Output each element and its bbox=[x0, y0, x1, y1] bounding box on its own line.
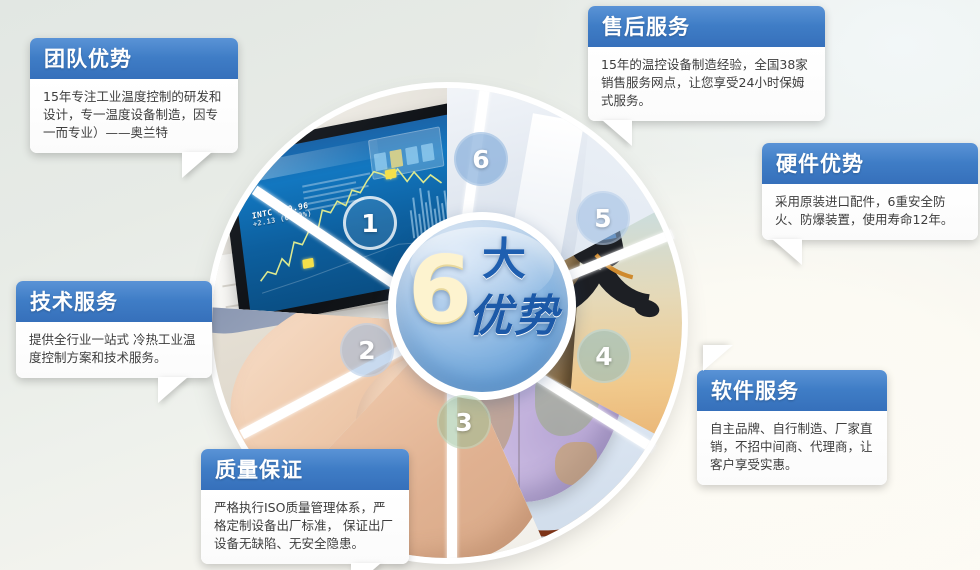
callout-tail bbox=[772, 239, 802, 265]
center-word-da: 大 bbox=[482, 238, 526, 282]
badge-6[interactable]: 6 bbox=[454, 132, 508, 186]
callout-title-hardware: 硬件优势 bbox=[762, 143, 978, 184]
callout-text-hardware: 采用原装进口配件，6重安全防火、防爆装置，使用寿命12年。 bbox=[762, 184, 978, 240]
callout-technical-service[interactable]: 技术服务 提供全行业一站式 冷热工业温度控制方案和技术服务。 bbox=[16, 281, 212, 378]
callout-title-team: 团队优势 bbox=[30, 38, 238, 79]
center-disc: 6 大 优势 bbox=[396, 220, 568, 392]
callout-text-technical: 提供全行业一站式 冷热工业温度控制方案和技术服务。 bbox=[16, 322, 212, 378]
callout-team-advantage[interactable]: 团队优势 15年专注工业温度控制的研发和设计，专一温度设备制造，因专一而专业）—… bbox=[30, 38, 238, 153]
center-number: 6 bbox=[408, 244, 472, 336]
badge-4[interactable]: 4 bbox=[577, 329, 631, 383]
callout-title-technical: 技术服务 bbox=[16, 281, 212, 322]
infographic-canvas: INTC 440.96+2.13 (0.49%) bbox=[0, 0, 980, 570]
badge-2[interactable]: 2 bbox=[340, 323, 394, 377]
callout-tail bbox=[351, 563, 381, 570]
callout-text-team: 15年专注工业温度控制的研发和设计，专一温度设备制造，因专一而专业）——奥兰特 bbox=[30, 79, 238, 153]
callout-text-quality: 严格执行ISO质量管理体系，严格定制设备出厂标准， 保证出厂设备无缺陷、无安全隐… bbox=[201, 490, 409, 564]
callout-tail bbox=[182, 152, 212, 178]
callout-tail bbox=[703, 345, 733, 371]
badge-3[interactable]: 3 bbox=[437, 395, 491, 449]
center-medallion: 6 大 优势 bbox=[388, 212, 576, 400]
callout-software-service[interactable]: 软件服务 自主品牌、自行制造、厂家直销，不招中间商、代理商，让客户享受实惠。 bbox=[697, 370, 887, 485]
callout-tail bbox=[602, 120, 632, 146]
callout-after-sales[interactable]: 售后服务 15年的温控设备制造经验，全国38家销售服务网点，让您享受24小时保姆… bbox=[588, 6, 825, 121]
callout-text-software: 自主品牌、自行制造、厂家直销，不招中间商、代理商，让客户享受实惠。 bbox=[697, 411, 887, 485]
callout-title-software: 软件服务 bbox=[697, 370, 887, 411]
badge-5[interactable]: 5 bbox=[576, 191, 630, 245]
center-word-youshi: 优势 bbox=[468, 294, 560, 340]
callout-title-quality: 质量保证 bbox=[201, 449, 409, 490]
callout-title-after-sales: 售后服务 bbox=[588, 6, 825, 47]
callout-hardware-advantage[interactable]: 硬件优势 采用原装进口配件，6重安全防火、防爆装置，使用寿命12年。 bbox=[762, 143, 978, 240]
callout-quality-assurance[interactable]: 质量保证 严格执行ISO质量管理体系，严格定制设备出厂标准， 保证出厂设备无缺陷… bbox=[201, 449, 409, 564]
callout-text-after-sales: 15年的温控设备制造经验，全国38家销售服务网点，让您享受24小时保姆式服务。 bbox=[588, 47, 825, 121]
callout-tail bbox=[158, 377, 188, 403]
badge-1[interactable]: 1 bbox=[343, 196, 397, 250]
